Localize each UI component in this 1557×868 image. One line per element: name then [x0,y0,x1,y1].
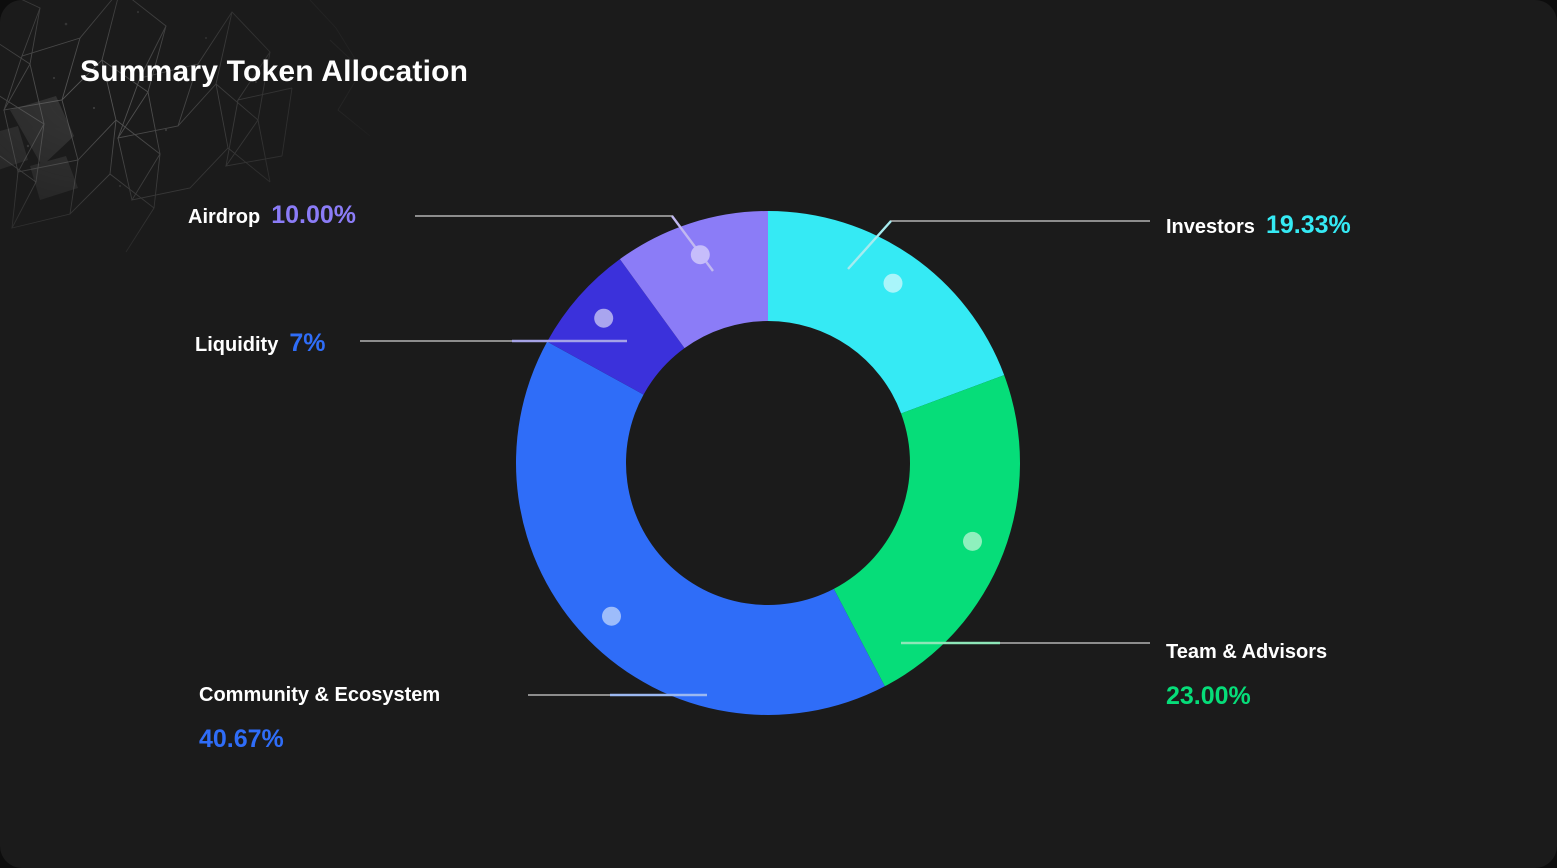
donut-slices [516,211,1020,715]
legend-value-airdrop: 10.00% [271,200,356,231]
legend-name-community: Community & Ecosystem [199,683,440,707]
legend-name-team: Team & Advisors [1166,640,1327,664]
legend-label-airdrop[interactable]: Airdrop10.00% [188,200,356,231]
legend-name-airdrop: Airdrop [188,205,260,229]
donut-slice-community-ecosystem[interactable] [516,342,885,715]
legend-label-investors[interactable]: Investors19.33% [1166,210,1351,241]
leader-dot-team-advisors [963,532,982,551]
legend-value-team: 23.00% [1166,681,1327,712]
donut-slice-investors[interactable] [768,211,1004,413]
leader-dot-liquidity [594,309,613,328]
token-allocation-card: Summary Token Allocation Airdro [0,0,1557,868]
legend-name-liquidity: Liquidity [195,333,278,357]
donut-slice-team-advisors[interactable] [834,375,1020,686]
legend-value-community: 40.67% [199,724,440,755]
legend-label-community[interactable]: Community & Ecosystem 40.67% [199,683,440,755]
legend-name-investors: Investors [1166,215,1255,239]
leader-dot-airdrop [691,245,710,264]
leader-dot-investors [884,274,903,293]
leader-dot-community-ecosystem [602,607,621,626]
legend-label-team[interactable]: Team & Advisors 23.00% [1166,640,1327,712]
legend-value-investors: 19.33% [1266,210,1351,241]
legend-label-liquidity[interactable]: Liquidity7% [195,328,325,359]
legend-value-liquidity: 7% [289,328,325,359]
